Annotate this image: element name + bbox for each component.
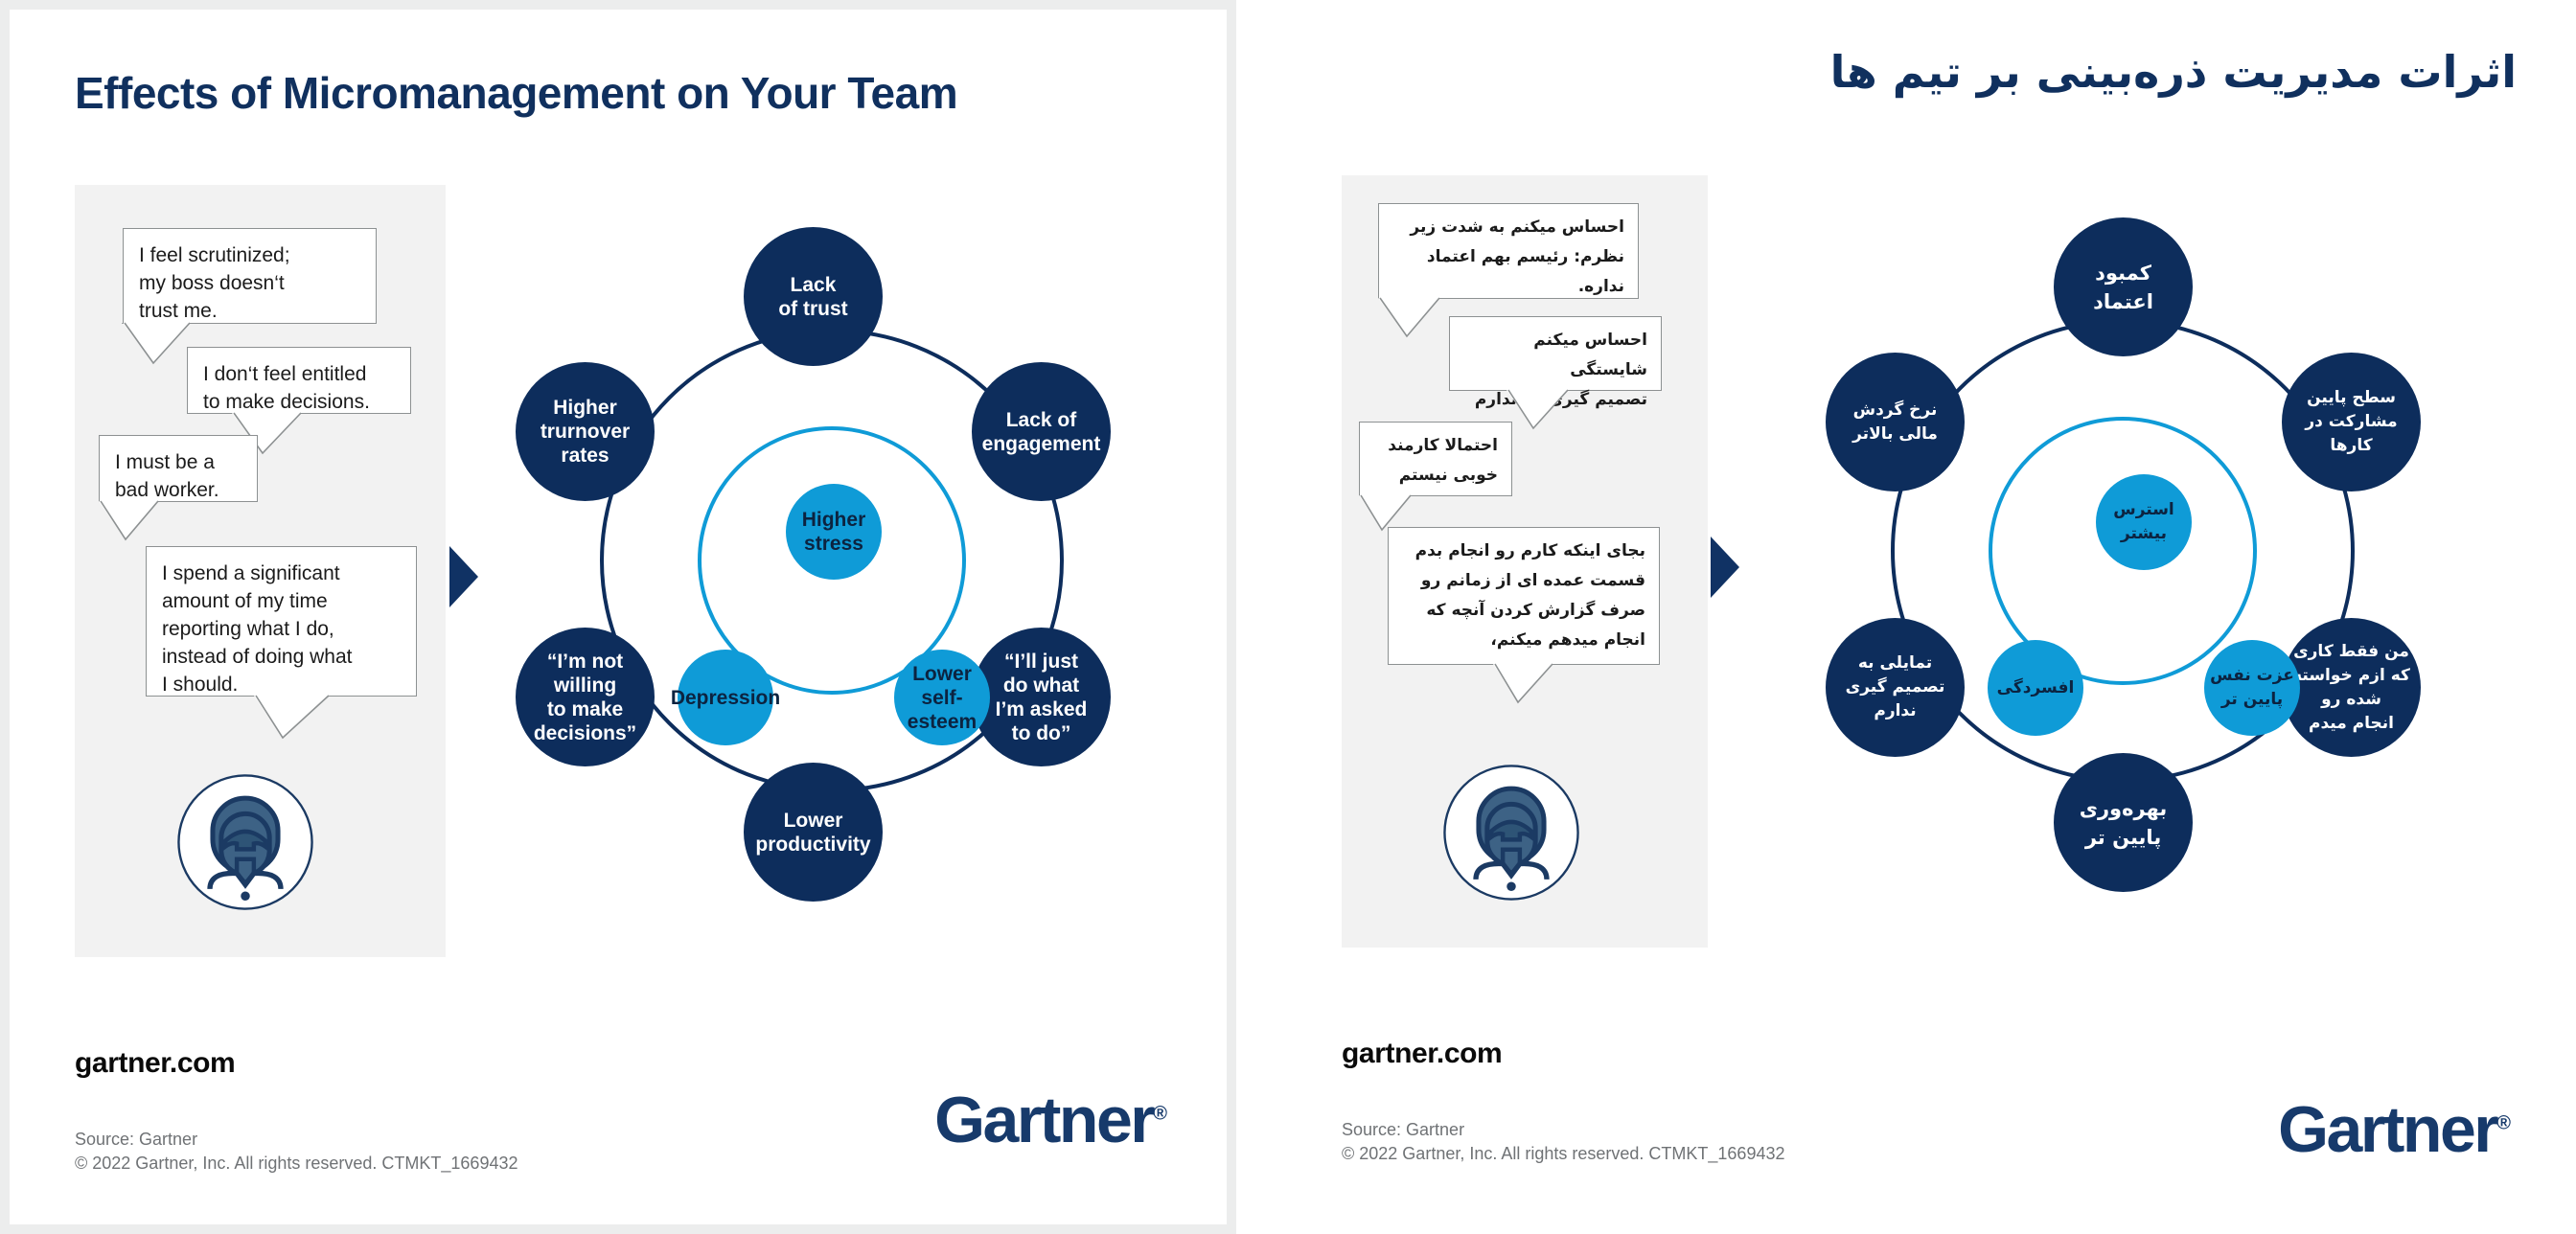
speech-bubble: I must be a bad worker. xyxy=(99,435,258,502)
speech-bubble: I feel scrutinized; my boss doesn‘t trus… xyxy=(123,228,377,324)
wheel-outer-node: Higher trurnover rates xyxy=(516,362,655,501)
wheel-inner-node: استرس بیشتر xyxy=(2096,474,2192,570)
wheel-outer-node: “I’ll just do what I’m asked to do” xyxy=(972,628,1111,766)
right-arrow-icon xyxy=(1711,537,1739,598)
wheel-inner-node: Higher stress xyxy=(786,484,882,580)
speech-bubble-tail-icon xyxy=(1506,390,1602,432)
wheel-outer-node: تمایلی به تصمیم گیری ندارم xyxy=(1826,618,1965,757)
speech-bubble-text: I spend a significant amount of my time … xyxy=(147,547,416,711)
source-note: Source: Gartner © 2022 Gartner, Inc. All… xyxy=(75,1128,518,1176)
gartner-logo-text: Gartner xyxy=(934,1084,1153,1156)
speech-bubble-tail-icon xyxy=(99,501,195,543)
speech-bubble-tail-icon xyxy=(1493,664,1589,706)
wheel-inner-node: Depression xyxy=(678,650,773,745)
site-label[interactable]: gartner.com xyxy=(1342,1038,1502,1070)
panel-farsi: اثرات مدیریت ذره‌بینی بر تیم ها احساس می… xyxy=(1236,0,2576,1234)
wheel-inner-node: عزت نفس پایین تر xyxy=(2204,640,2300,736)
speech-bubble: احتمالا کارمند خوبی نیستم xyxy=(1359,422,1512,496)
speech-bubble-text: احتمالا کارمند خوبی نیستم xyxy=(1360,423,1511,499)
speech-bubble: بجای اینکه کارم رو انجام بدم قسمت عمده ا… xyxy=(1388,527,1660,665)
gartner-logo: Gartner® xyxy=(934,1083,1167,1157)
speech-bubble-text: احساس میکنم به شدت زیر نظرم: رئیسم بهم ا… xyxy=(1379,204,1638,310)
gartner-logo-text: Gartner xyxy=(2278,1093,2496,1166)
registered-trademark-icon: ® xyxy=(2496,1112,2511,1133)
wheel-outer-node: سطح پایین مشارکت در کارها xyxy=(2282,353,2421,491)
wheel-outer-node: “I’m not willing to make decisions” xyxy=(516,628,655,766)
speech-bubble: احساس میکنم شایستگی تصمیم گیری رو ندارم xyxy=(1449,316,1662,391)
wheel-outer-node: من فقط کاری که ازم خواسته شده رو انجام م… xyxy=(2282,618,2421,757)
gartner-logo: Gartner® xyxy=(2278,1092,2511,1167)
wheel-outer-node: نرخ گردش مالی بالاتر xyxy=(1826,353,1965,491)
person-avatar-icon xyxy=(174,771,316,913)
panel-english: Effects of Micromanagement on Your Team … xyxy=(0,0,1236,1234)
speech-bubble-text: بجای اینکه کارم رو انجام بدم قسمت عمده ا… xyxy=(1389,528,1659,664)
registered-trademark-icon: ® xyxy=(1153,1103,1167,1124)
speech-bubble-text: I feel scrutinized; my boss doesn‘t trus… xyxy=(124,229,376,337)
wheel-outer-node: کمبود اعتماد xyxy=(2054,217,2193,356)
speech-bubble-tail-icon xyxy=(254,696,359,740)
site-label[interactable]: gartner.com xyxy=(75,1047,235,1080)
page-title-english: Effects of Micromanagement on Your Team xyxy=(75,67,957,119)
wheel-inner-node: Lower self- esteem xyxy=(894,650,990,745)
page-title-farsi: اثرات مدیریت ذره‌بینی بر تیم ها xyxy=(1830,46,2517,98)
wheel-outer-node: بهره‌وری پایین تر xyxy=(2054,753,2193,892)
wheel-inner-node: افسردگی xyxy=(1988,640,2083,736)
wheel-outer-node: Lower productivity xyxy=(744,763,883,902)
speech-bubble: احساس میکنم به شدت زیر نظرم: رئیسم بهم ا… xyxy=(1378,203,1639,299)
speech-bubble: I don‘t feel entitled to make decisions. xyxy=(187,347,411,414)
wheel-outer-node: Lack of engagement xyxy=(972,362,1111,501)
person-avatar-icon xyxy=(1440,762,1582,903)
speech-bubble: I spend a significant amount of my time … xyxy=(146,546,417,697)
wheel-outer-node: Lack of trust xyxy=(744,227,883,366)
source-note: Source: Gartner © 2022 Gartner, Inc. All… xyxy=(1342,1118,1785,1166)
